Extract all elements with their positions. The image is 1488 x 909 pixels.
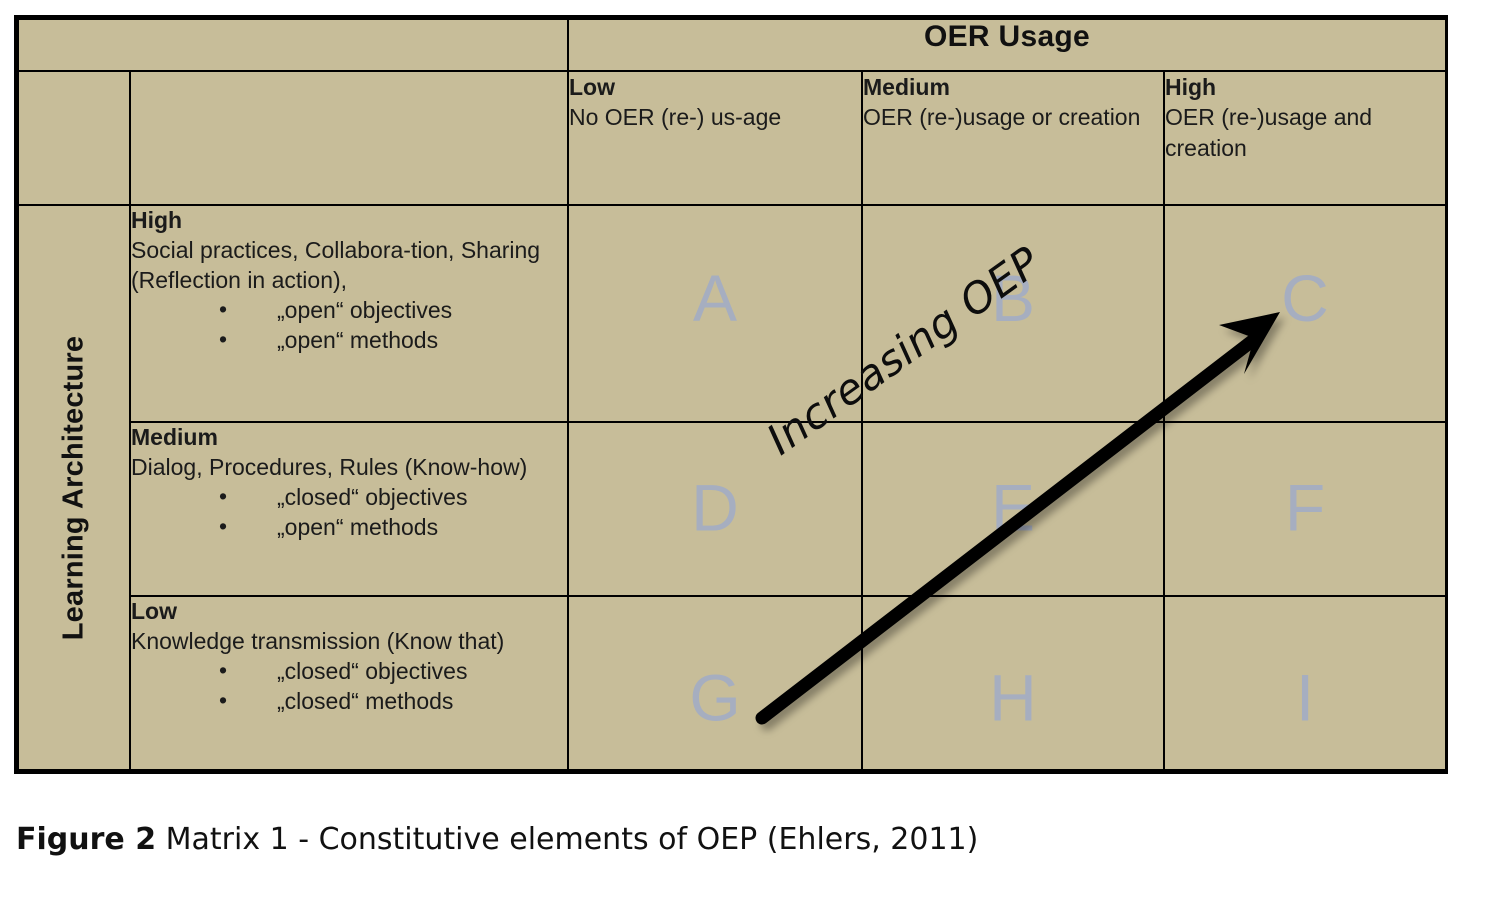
- row-medium-body: Dialog, Procedures, Rules (Know-how): [131, 453, 567, 483]
- figure-caption: Figure 2 Matrix 1 - Constitutive element…: [16, 822, 978, 857]
- row-high-title: High: [131, 206, 567, 236]
- row-description-high: High Social practices, Collabora-tion, S…: [130, 205, 568, 422]
- matrix-cell-G: G: [568, 596, 862, 770]
- matrix-cell-letter: D: [569, 475, 861, 541]
- row-low-body: Knowledge transmission (Know that): [131, 627, 567, 657]
- row-description-medium: Medium Dialog, Procedures, Rules (Know-h…: [130, 422, 568, 596]
- matrix-cell-D: D: [568, 422, 862, 596]
- matrix-cell-H: H: [862, 596, 1164, 770]
- matrix-cell-letter: I: [1165, 664, 1445, 730]
- list-item: „closed“ objectives: [219, 657, 567, 686]
- matrix-row-medium: Medium Dialog, Procedures, Rules (Know-h…: [18, 422, 1446, 596]
- matrix-cell-B: B: [862, 205, 1164, 422]
- figure-caption-text: Matrix 1 - Constitutive elements of OEP …: [156, 822, 978, 857]
- list-item: „open“ methods: [219, 326, 567, 355]
- matrix-cell-letter: C: [1165, 265, 1445, 331]
- header-row-axis: OER Usage: [18, 19, 1446, 71]
- column-header-medium: Medium OER (re-)usage or creation: [862, 71, 1164, 206]
- column-header-medium-title: Medium: [863, 72, 1163, 103]
- matrix-row-low: Low Knowledge transmission (Know that) „…: [18, 596, 1446, 770]
- row-high-body: Social practices, Collabora-tion, Sharin…: [131, 236, 567, 295]
- matrix-cell-letter: B: [863, 265, 1163, 331]
- column-header-low-title: Low: [569, 72, 861, 103]
- row-description-low: Low Knowledge transmission (Know that) „…: [130, 596, 568, 770]
- column-header-high-subtitle: OER (re-)usage and creation: [1165, 102, 1445, 163]
- corner-blank-cell: [18, 19, 568, 71]
- list-item: „open“ objectives: [219, 296, 567, 325]
- header-row-columns: Low No OER (re-) us-age Medium OER (re-)…: [18, 71, 1446, 206]
- column-axis-title: OER Usage: [568, 19, 1446, 71]
- matrix-row-high: Learning Architecture High Social practi…: [18, 205, 1446, 422]
- matrix-cell-letter: G: [569, 664, 861, 730]
- row-low-title: Low: [131, 597, 567, 627]
- matrix-cell-letter: E: [863, 475, 1163, 541]
- row-high-bullets: „open“ objectives „open“ methods: [131, 296, 567, 355]
- matrix-cell-letter: F: [1165, 475, 1445, 541]
- column-header-low-subtitle: No OER (re-) us-age: [569, 102, 861, 133]
- row-low-bullets: „closed“ objectives „closed“ methods: [131, 657, 567, 716]
- row-axis-title: Learning Architecture: [58, 335, 91, 639]
- matrix-cell-F: F: [1164, 422, 1446, 596]
- matrix-cell-A: A: [568, 205, 862, 422]
- matrix-cell-letter: H: [863, 664, 1163, 730]
- matrix-cell-E: E: [862, 422, 1164, 596]
- matrix-cell-C: C: [1164, 205, 1446, 422]
- matrix-cell-I: I: [1164, 596, 1446, 770]
- column-header-medium-subtitle: OER (re-)usage or creation: [863, 102, 1163, 133]
- list-item: „closed“ methods: [219, 687, 567, 716]
- column-header-high-title: High: [1165, 72, 1445, 103]
- figure-caption-label: Figure 2: [16, 822, 156, 857]
- matrix-cell-letter: A: [569, 265, 861, 331]
- list-item: „closed“ objectives: [219, 483, 567, 512]
- column-header-low: Low No OER (re-) us-age: [568, 71, 862, 206]
- column-header-high: High OER (re-)usage and creation: [1164, 71, 1446, 206]
- row-axis-title-cell: Learning Architecture: [18, 205, 130, 770]
- oep-matrix: OER Usage Low No OER (re-) us-age Medium…: [14, 15, 1448, 774]
- axis-corner-left: [18, 71, 130, 206]
- figure-container: OER Usage Low No OER (re-) us-age Medium…: [0, 0, 1488, 904]
- list-item: „open“ methods: [219, 513, 567, 542]
- row-medium-bullets: „closed“ objectives „open“ methods: [131, 483, 567, 542]
- row-medium-title: Medium: [131, 423, 567, 453]
- matrix-table: OER Usage Low No OER (re-) us-age Medium…: [17, 18, 1447, 771]
- desc-corner-cell: [130, 71, 568, 206]
